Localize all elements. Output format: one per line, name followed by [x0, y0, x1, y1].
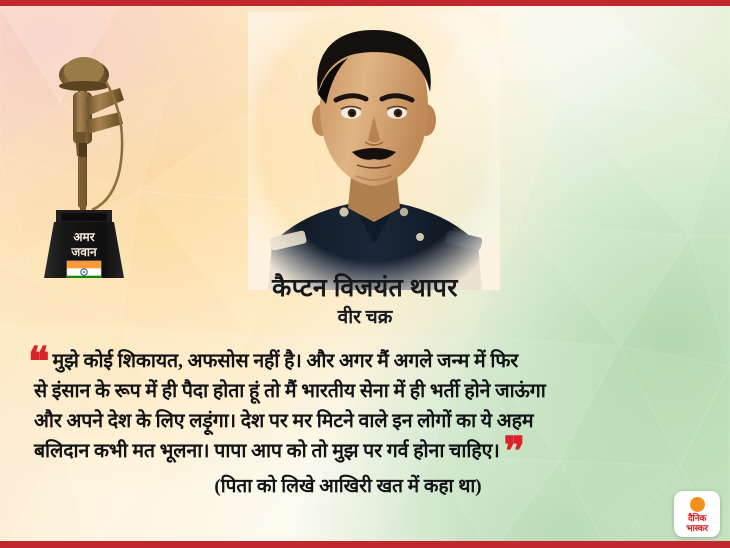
award-subtitle: वीर चक्र [0, 307, 730, 330]
quote-line-1: ❝मुझे कोई शिकायत, अफसोस नहीं है। और अगर … [28, 347, 708, 377]
portrait-illustration [248, 12, 500, 290]
amar-jawan-statue: अमर जवान [28, 28, 138, 278]
quote-line-3-text: और अपने देश के लिए लड़ूंगा। देश पर मर मि… [34, 411, 533, 432]
logo-line-2: भास्कर [686, 523, 708, 533]
quote-line-3: और अपने देश के लिए लड़ूंगा। देश पर मर मि… [28, 407, 708, 437]
statue-plaque-line1: अमर [73, 230, 95, 244]
quote-line-4-text: बलिदान कभी मत भूलना। पापा आप को तो मुझ प… [34, 441, 500, 462]
hero-portrait [248, 12, 500, 290]
close-quote-icon: ❞ [504, 429, 524, 474]
quote-block: ❝मुझे कोई शिकायत, अफसोस नहीं है। और अगर … [28, 347, 708, 498]
statue-illustration: अमर जवान [28, 28, 138, 278]
quote-attribution: (पिता को लिखे आखिरी खत में कहा था) [28, 472, 708, 498]
quote-line-4: बलिदान कभी मत भूलना। पापा आप को तो मुझ प… [28, 437, 708, 467]
sun-icon [690, 497, 705, 512]
quote-line-2-text: से इंसान के रूप में ही पैदा होता हूं तो … [34, 381, 546, 402]
dainik-bhaskar-logo: दैनिक भास्कर [674, 491, 720, 537]
open-quote-icon: ❝ [28, 339, 48, 384]
quote-line-1-text: मुझे कोई शिकायत, अफसोस नहीं है। और अगर म… [53, 351, 519, 372]
page-title: कैप्टन विजयंत थापर [0, 274, 730, 304]
name-block: कैप्टन विजयंत थापर वीर चक्र [0, 274, 730, 329]
logo-line-1: दैनिक [688, 513, 706, 523]
poster-canvas: अमर जवान [0, 0, 730, 548]
quote-line-2: से इंसान के रूप में ही पैदा होता हूं तो … [28, 377, 708, 407]
statue-plaque-line2: जवान [70, 245, 98, 259]
